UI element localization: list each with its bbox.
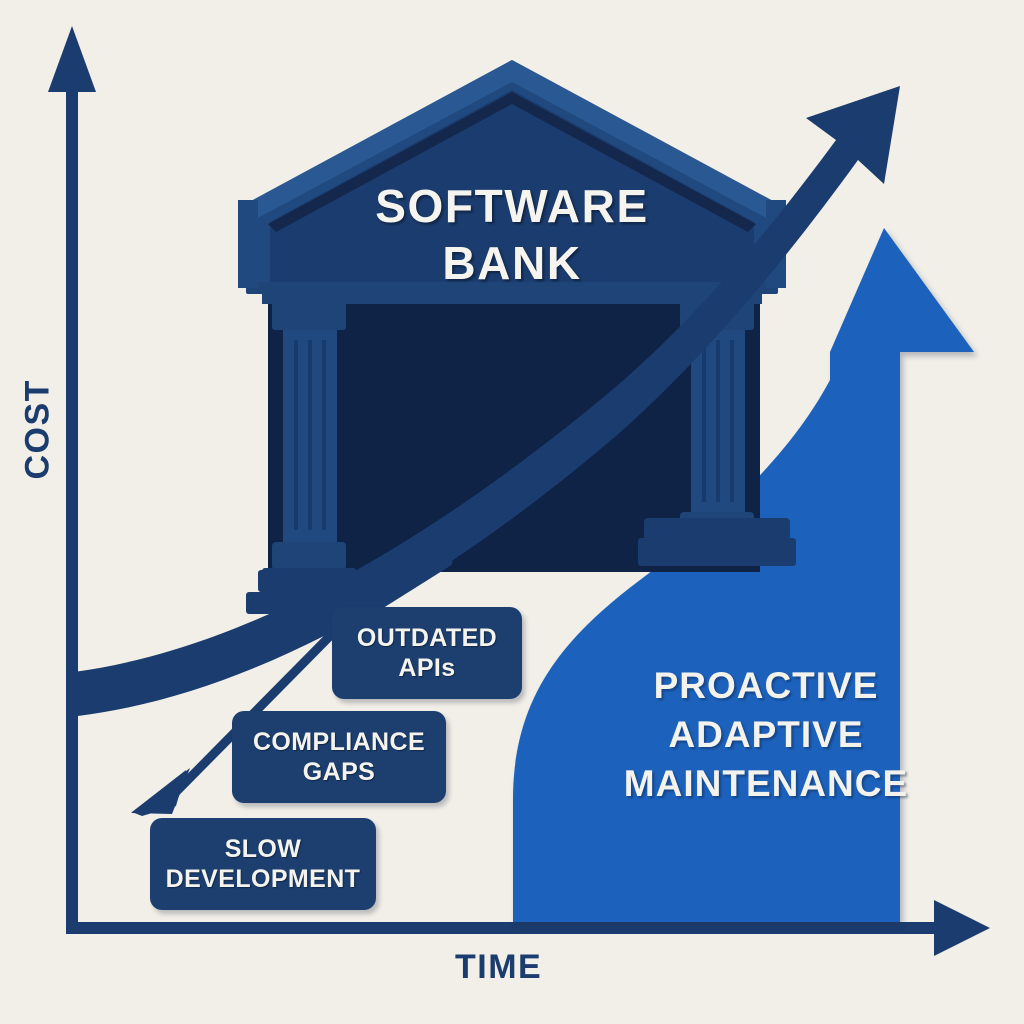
- tag-outdated-line1: OUTDATED: [357, 623, 497, 654]
- tag-slow-development[interactable]: SLOW DEVELOPMENT: [150, 818, 376, 910]
- tag-outdated-apis[interactable]: OUTDATED APIs: [332, 607, 522, 699]
- y-axis-label: COST: [19, 420, 58, 480]
- tag-outdated-line2: APIs: [357, 653, 497, 684]
- proactive-line1: PROACTIVE: [596, 662, 936, 711]
- proactive-line3: MAINTENANCE: [596, 760, 936, 809]
- tag-compliance-gaps[interactable]: COMPLIANCE GAPS: [232, 711, 446, 803]
- infographic-canvas: SOFTWARE BANK SLOW DEVELOPMENT COMPLIANC…: [0, 0, 1024, 1024]
- tag-compliance-line1: COMPLIANCE: [253, 727, 425, 758]
- tag-slow-line2: DEVELOPMENT: [166, 864, 361, 895]
- proactive-line2: ADAPTIVE: [596, 711, 936, 760]
- tag-compliance-line2: GAPS: [253, 757, 425, 788]
- proactive-maintenance-text: PROACTIVE ADAPTIVE MAINTENANCE: [596, 662, 936, 808]
- tag-slow-line1: SLOW: [166, 834, 361, 865]
- x-axis-label: TIME: [455, 948, 542, 987]
